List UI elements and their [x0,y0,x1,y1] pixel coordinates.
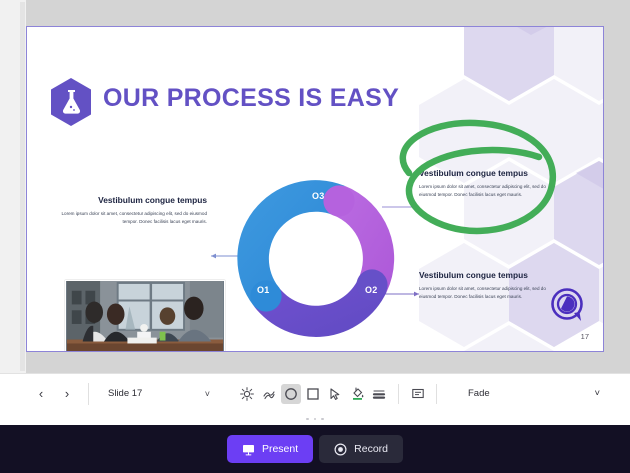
donut-label-o2: O2 [365,285,377,295]
notes-icon[interactable] [408,384,428,404]
chevron-down-icon: ˅ [205,389,210,399]
slide-select[interactable]: Slide 17 ˅ [99,382,217,406]
slide-content: OUR PROCESS IS EASY Vestibulum congue te… [27,27,603,351]
donut-label-o3: O3 [312,191,324,201]
toolbar-divider [88,383,89,405]
shape-square-icon[interactable] [303,384,323,404]
align-lines-icon[interactable] [369,384,389,404]
fill-color-icon[interactable] [347,384,367,404]
animation-icon[interactable] [259,384,279,404]
slide-stage: OUR PROCESS IS EASY Vestibulum congue te… [0,0,630,373]
toolbar-divider [398,384,399,404]
chevron-right-icon[interactable]: › [56,383,78,405]
slide-toolbar: ‹ › Slide 17 ˅ [0,373,630,413]
present-button[interactable]: Present [227,435,313,463]
shape-circle-icon[interactable] [281,384,301,404]
vertical-scrollbar[interactable] [20,2,25,371]
chat-bubble-logo [549,287,587,325]
page-dot[interactable] [306,418,309,421]
transition-select[interactable]: Fade ˅ [458,382,608,406]
slide-select-value: Slide 17 [108,388,142,399]
drawing-tools-group [237,384,428,404]
transition-select-value: Fade [468,388,490,399]
present-screen-icon [242,443,255,456]
toolbar-page-dots [0,413,630,425]
chevron-down-icon: ˅ [594,388,600,399]
chevron-left-icon[interactable]: ‹ [30,383,52,405]
record-circle-icon [334,443,347,456]
bottom-action-bar: Present Record [0,425,630,473]
meeting-room-photo [65,280,225,351]
effects-icon[interactable] [237,384,257,404]
slide-page-number: 17 [581,332,589,341]
page-dot[interactable] [314,418,317,421]
donut-label-o1: O1 [257,285,269,295]
ink-annotation-circle[interactable] [379,113,569,245]
cursor-arrow-icon[interactable] [325,384,345,404]
slide-canvas[interactable]: OUR PROCESS IS EASY Vestibulum congue te… [26,26,604,352]
record-button-label: Record [354,443,388,455]
toolbar-divider [436,384,437,404]
slide-nav-group: ‹ › [30,383,78,405]
page-dot[interactable] [321,418,324,421]
presentation-editor-window: OUR PROCESS IS EASY Vestibulum congue te… [0,0,630,473]
record-button[interactable]: Record [319,435,403,463]
present-button-label: Present [262,443,298,455]
